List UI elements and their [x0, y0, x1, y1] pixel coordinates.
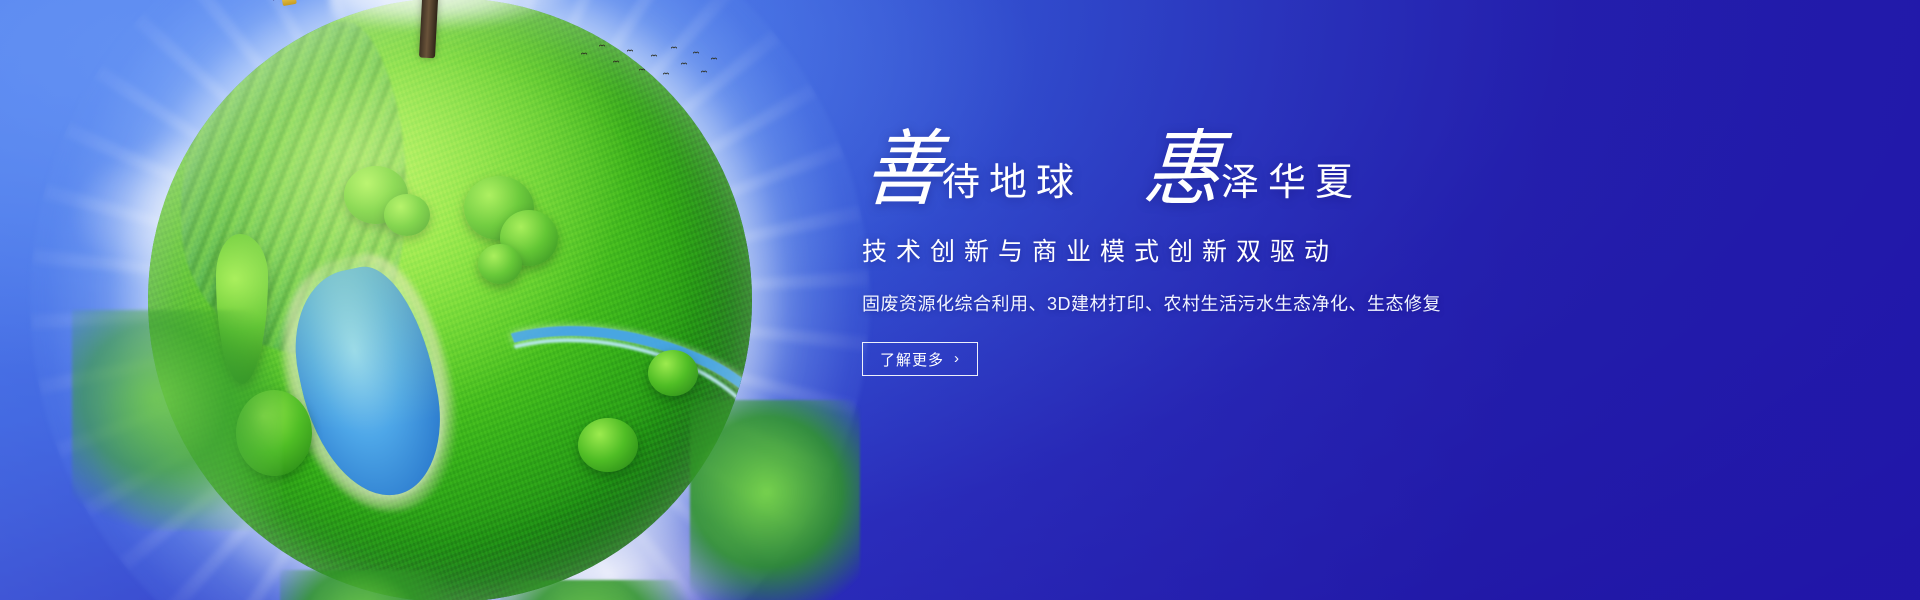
river — [351, 256, 752, 600]
cloud-wisp — [150, 350, 410, 490]
pole-cloud — [330, 0, 570, 30]
learn-more-label: 了解更多 — [880, 349, 944, 370]
chevron-right-icon: › — [954, 351, 960, 366]
tree-cluster — [648, 350, 698, 396]
tree-cluster — [464, 176, 534, 240]
foreground-tree — [72, 310, 282, 530]
foreground-tree — [500, 580, 700, 600]
tree-trunk — [419, 0, 441, 58]
tree-cluster — [578, 418, 638, 472]
foreground-tree — [280, 570, 460, 600]
headline-text-daidiqiu: 待地球 — [942, 164, 1083, 202]
hot-air-balloon-icon — [246, 0, 316, 16]
hero-description: 固废资源化综合利用、3D建材打印、农村生活污水生态净化、生态修复 — [862, 290, 1562, 316]
cloud-wisp — [70, 130, 370, 300]
river-highlight — [367, 274, 752, 600]
lake — [280, 257, 457, 509]
globe-illustration — [30, 0, 870, 600]
foreground-tree — [690, 400, 860, 600]
tree-cluster — [344, 166, 408, 224]
sky-halo — [30, 0, 870, 600]
cloud-streaks — [30, 0, 870, 600]
balloon-ropes — [271, 0, 298, 1]
hero-copy: 善 待地球 惠 泽华夏 技术创新与商业模式创新双驱动 固废资源化综合利用、3D建… — [862, 132, 1562, 376]
cloud-wisp — [460, 500, 760, 600]
mountain-ridge — [161, 17, 424, 369]
headline-char-shan: 善 — [862, 129, 945, 212]
lake-shore — [263, 242, 475, 528]
hero-banner: 善 待地球 惠 泽华夏 技术创新与商业模式创新双驱动 固废资源化综合利用、3D建… — [0, 0, 1920, 600]
hero-headline: 善 待地球 惠 泽华夏 — [862, 132, 1562, 206]
headline-text-zehuaxia: 泽华夏 — [1221, 164, 1362, 202]
tree-cluster — [478, 244, 522, 284]
tree-cluster — [216, 234, 268, 384]
tree-cluster — [500, 210, 558, 266]
hero-subtitle: 技术创新与商业模式创新双驱动 — [862, 232, 1562, 268]
headline-char-hui: 惠 — [1141, 129, 1224, 212]
learn-more-button[interactable]: 了解更多 › — [862, 342, 978, 376]
tree-cluster — [236, 390, 312, 476]
birds-flock — [575, 42, 725, 102]
tree-cluster — [384, 194, 430, 236]
balloon-basket — [281, 0, 297, 6]
